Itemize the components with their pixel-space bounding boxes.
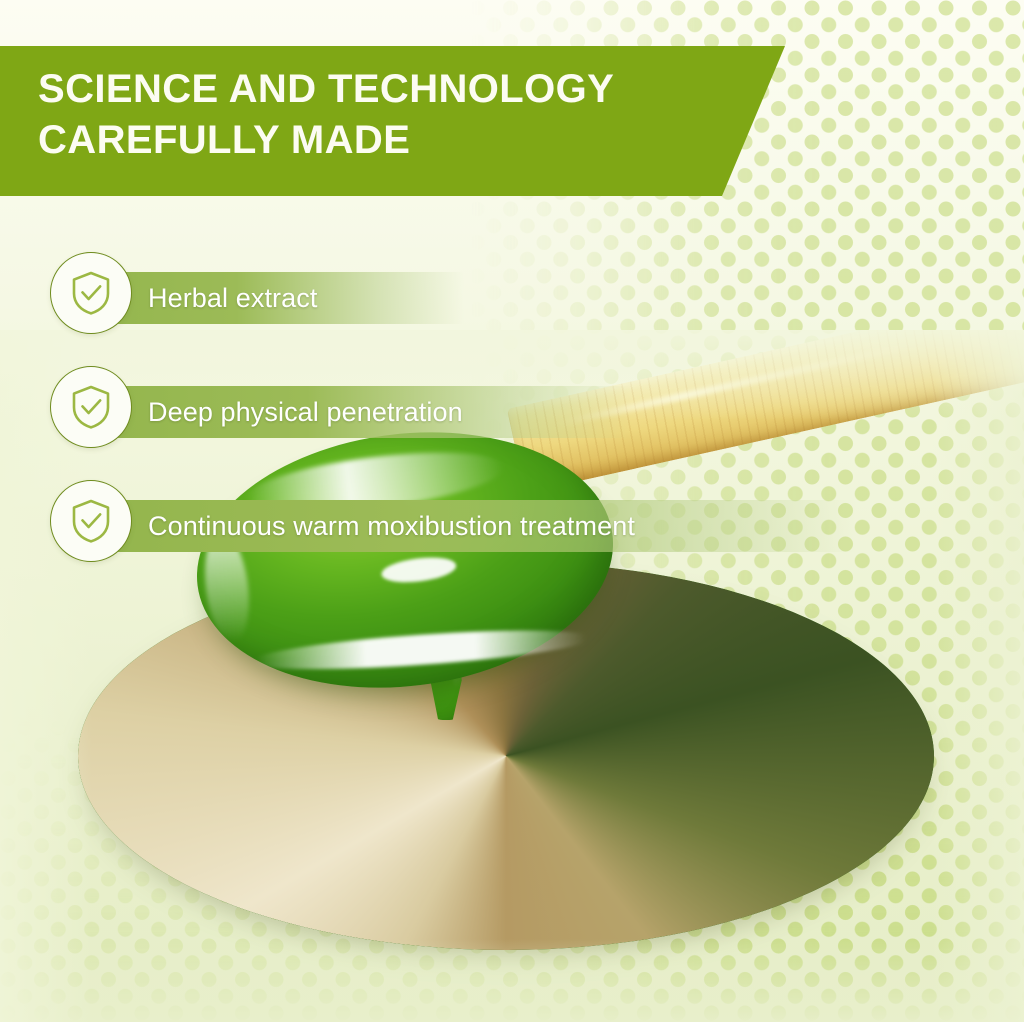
feature-item-herbal-extract: Herbal extract	[0, 250, 1024, 364]
feature-label: Herbal extract	[148, 283, 317, 314]
shield-check-icon	[50, 366, 132, 448]
page-title: SCIENCE AND TECHNOLOGY CAREFULLY MADE	[38, 64, 758, 166]
feature-label: Continuous warm moxibustion treatment	[148, 511, 635, 542]
shield-check-icon	[50, 252, 132, 334]
feature-item-deep-physical-penetration: Deep physical penetration	[0, 364, 1024, 478]
feature-item-continuous-warm-moxibustion-treatment: Continuous warm moxibustion treatment	[0, 478, 1024, 592]
feature-list: Herbal extract Deep physical penetration…	[0, 250, 1024, 592]
headline-banner: SCIENCE AND TECHNOLOGY CAREFULLY MADE	[0, 46, 792, 196]
shield-check-icon	[50, 480, 132, 562]
feature-label: Deep physical penetration	[148, 397, 463, 428]
promo-poster: SCIENCE AND TECHNOLOGY CAREFULLY MADE He…	[0, 0, 1024, 1022]
